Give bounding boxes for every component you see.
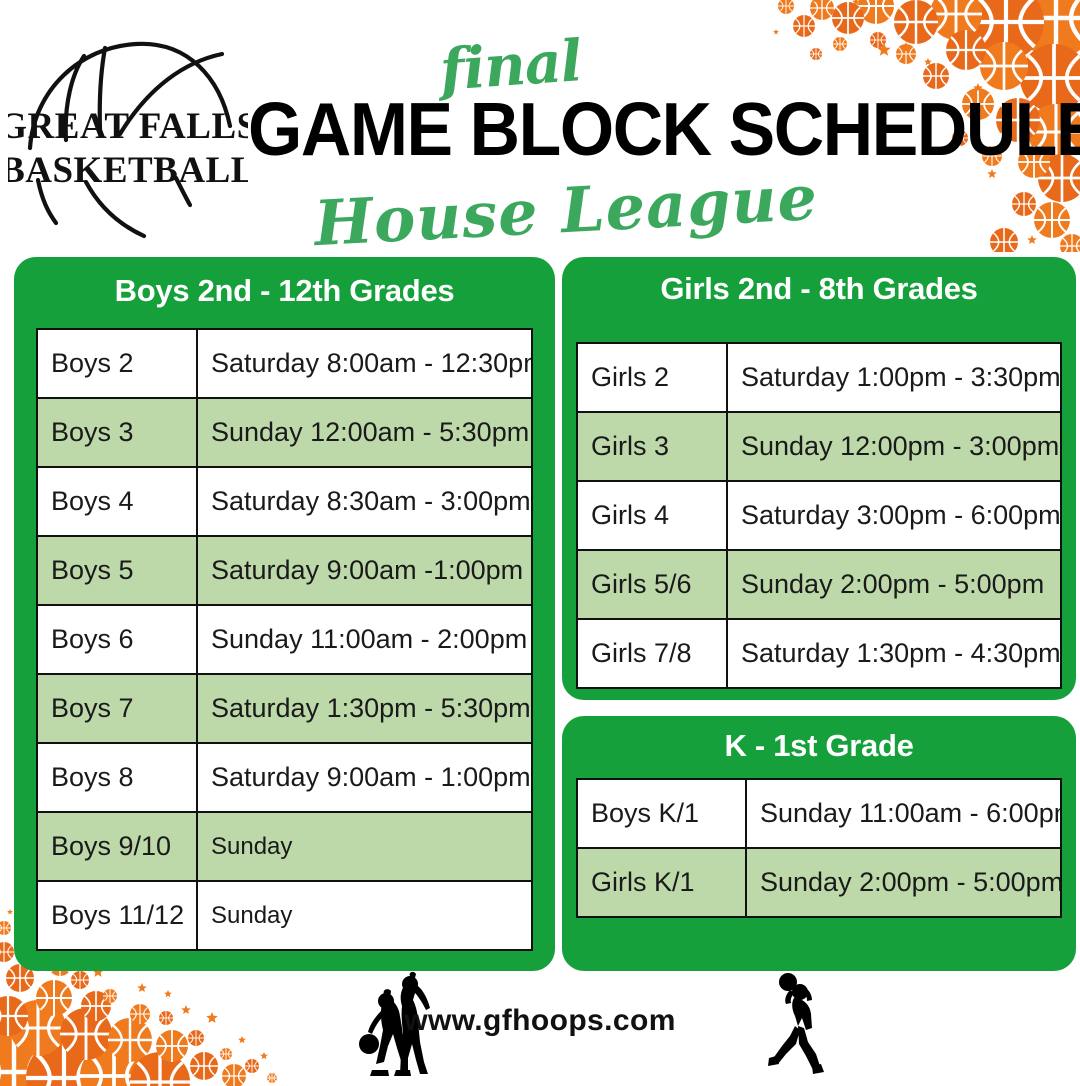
table-row: Boys 8Saturday 9:00am - 1:00pm (37, 743, 532, 812)
grade-cell: Boys 8 (37, 743, 197, 812)
time-cell: Sunday (197, 812, 532, 881)
panel-girls-title: Girls 2nd - 8th Grades (562, 271, 1076, 307)
logo: GREAT FALLS BASKETBALL (8, 30, 248, 250)
table-row: Girls 5/6Sunday 2:00pm - 5:00pm (577, 550, 1061, 619)
panel-k1-title: K - 1st Grade (562, 728, 1076, 764)
table-row: Boys 6Sunday 11:00am - 2:00pm (37, 605, 532, 674)
table-row: Boys K/1Sunday 11:00am - 6:00pm (577, 779, 1061, 848)
table-row: Girls 4Saturday 3:00pm - 6:00pm (577, 481, 1061, 550)
logo-line-1: GREAT FALLS (8, 106, 248, 147)
time-cell: Sunday 11:00am - 2:00pm (197, 605, 532, 674)
time-cell: Sunday 11:00am - 6:00pm (746, 779, 1061, 848)
table-boys-schedule: Boys 2Saturday 8:00am - 12:30pmBoys 3Sun… (36, 328, 533, 951)
grade-cell: Boys K/1 (577, 779, 746, 848)
table-row: Boys 5Saturday 9:00am -1:00pm (37, 536, 532, 605)
website-url[interactable]: www.gfhoops.com (0, 1004, 1080, 1038)
grade-cell: Girls 2 (577, 343, 727, 412)
grade-cell: Boys 2 (37, 329, 197, 398)
grade-cell: Girls 3 (577, 412, 727, 481)
page-footer: www.gfhoops.com (0, 970, 1080, 1080)
table-girls-schedule: Girls 2Saturday 1:00pm - 3:30pmGirls 3Su… (576, 342, 1062, 689)
table-row: Boys 7Saturday 1:30pm - 5:30pm (37, 674, 532, 743)
time-cell: Saturday 1:30pm - 5:30pm (197, 674, 532, 743)
grade-cell: Boys 7 (37, 674, 197, 743)
panel-girls-schedule: Girls 2nd - 8th Grades Girls 2Saturday 1… (562, 257, 1076, 700)
table-row: Girls K/1Sunday 2:00pm - 5:00pm (577, 848, 1061, 917)
table-row: Girls 3Sunday 12:00pm - 3:00pm (577, 412, 1061, 481)
grade-cell: Boys 11/12 (37, 881, 197, 950)
grade-cell: Boys 9/10 (37, 812, 197, 881)
basketball-outline-icon: GREAT FALLS BASKETBALL (8, 30, 248, 250)
time-cell: Saturday 8:00am - 12:30pm (197, 329, 532, 398)
time-cell: Saturday 8:30am - 3:00pm (197, 467, 532, 536)
time-cell: Sunday (197, 881, 532, 950)
page-header: GREAT FALLS BASKETBALL final GAME BLOCK … (0, 0, 1080, 252)
panel-boys-title: Boys 2nd - 12th Grades (14, 273, 555, 309)
grade-cell: Boys 5 (37, 536, 197, 605)
grade-cell: Boys 6 (37, 605, 197, 674)
time-cell: Sunday 12:00pm - 3:00pm (727, 412, 1061, 481)
time-cell: Saturday 9:00am - 1:00pm (197, 743, 532, 812)
time-cell: Sunday 2:00pm - 5:00pm (746, 848, 1061, 917)
time-cell: Sunday 12:00am - 5:30pm (197, 398, 532, 467)
time-cell: Saturday 1:00pm - 3:30pm (727, 343, 1061, 412)
grade-cell: Boys 4 (37, 467, 197, 536)
table-row: Boys 2Saturday 8:00am - 12:30pm (37, 329, 532, 398)
table-row: Girls 2Saturday 1:00pm - 3:30pm (577, 343, 1061, 412)
grade-cell: Girls 5/6 (577, 550, 727, 619)
table-k1-body: Boys K/1Sunday 11:00am - 6:00pmGirls K/1… (577, 779, 1061, 917)
title-block: final GAME BLOCK SCHEDULE House League (248, 34, 868, 249)
grade-cell: Girls 4 (577, 481, 727, 550)
panel-boys-schedule: Boys 2nd - 12th Grades Boys 2Saturday 8:… (14, 257, 555, 971)
table-row: Boys 4Saturday 8:30am - 3:00pm (37, 467, 532, 536)
page-title: GAME BLOCK SCHEDULE (248, 90, 1080, 168)
grade-cell: Girls K/1 (577, 848, 746, 917)
table-boys-body: Boys 2Saturday 8:00am - 12:30pmBoys 3Sun… (37, 329, 532, 950)
script-house-league: House League (312, 161, 819, 260)
table-row: Girls 7/8Saturday 1:30pm - 4:30pm (577, 619, 1061, 688)
table-row: Boys 3Sunday 12:00am - 5:30pm (37, 398, 532, 467)
time-cell: Saturday 3:00pm - 6:00pm (727, 481, 1061, 550)
time-cell: Sunday 2:00pm - 5:00pm (727, 550, 1061, 619)
panel-k1-schedule: K - 1st Grade Boys K/1Sunday 11:00am - 6… (562, 716, 1076, 971)
table-row: Boys 9/10Sunday (37, 812, 532, 881)
grade-cell: Girls 7/8 (577, 619, 727, 688)
grade-cell: Boys 3 (37, 398, 197, 467)
table-girls-body: Girls 2Saturday 1:00pm - 3:30pmGirls 3Su… (577, 343, 1061, 688)
table-k1-schedule: Boys K/1Sunday 11:00am - 6:00pmGirls K/1… (576, 778, 1062, 918)
logo-line-2: BASKETBALL (8, 150, 248, 191)
table-row: Boys 11/12Sunday (37, 881, 532, 950)
basketball-player-shooting-silhouette-icon (762, 970, 826, 1078)
time-cell: Saturday 1:30pm - 4:30pm (727, 619, 1061, 688)
time-cell: Saturday 9:00am -1:00pm (197, 536, 532, 605)
